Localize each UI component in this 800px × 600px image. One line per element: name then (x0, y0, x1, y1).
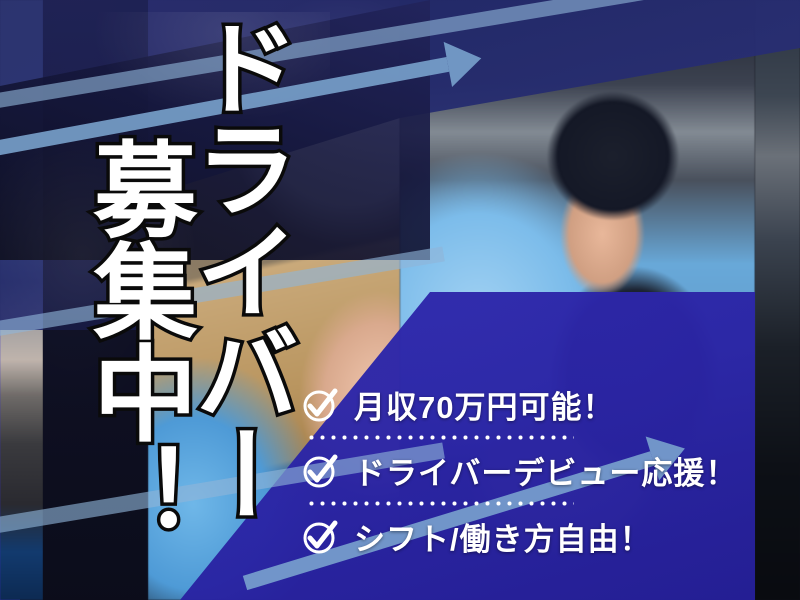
feature-item-1: 月収70万円可能！ (300, 378, 770, 430)
feature-separator (306, 496, 574, 510)
feature-label: 月収70万円可能！ (354, 382, 614, 427)
feature-item-2: ドライバーデビュー応援！ (300, 444, 770, 496)
feature-list: 月収70万円可能！ ドライバーデビュー応援！ シフト/働き方自由！ (300, 378, 770, 562)
page-subtitle: 募集中！ (84, 136, 184, 544)
check-circle-icon (300, 516, 340, 556)
feature-item-3: シフト/働き方自由！ (300, 510, 770, 562)
page-title: ドライバー (186, 14, 286, 524)
feature-label: シフト/働き方自由！ (354, 514, 652, 559)
check-circle-icon (300, 384, 340, 424)
feature-label: ドライバーデビュー応援！ (354, 448, 737, 493)
delivery-driver-recruitment-poster: ドライバー 募集中！ 月収70万円可能！ ドライバーデビュー応援！ (0, 0, 800, 600)
check-circle-icon (300, 450, 340, 490)
feature-separator (306, 430, 574, 444)
